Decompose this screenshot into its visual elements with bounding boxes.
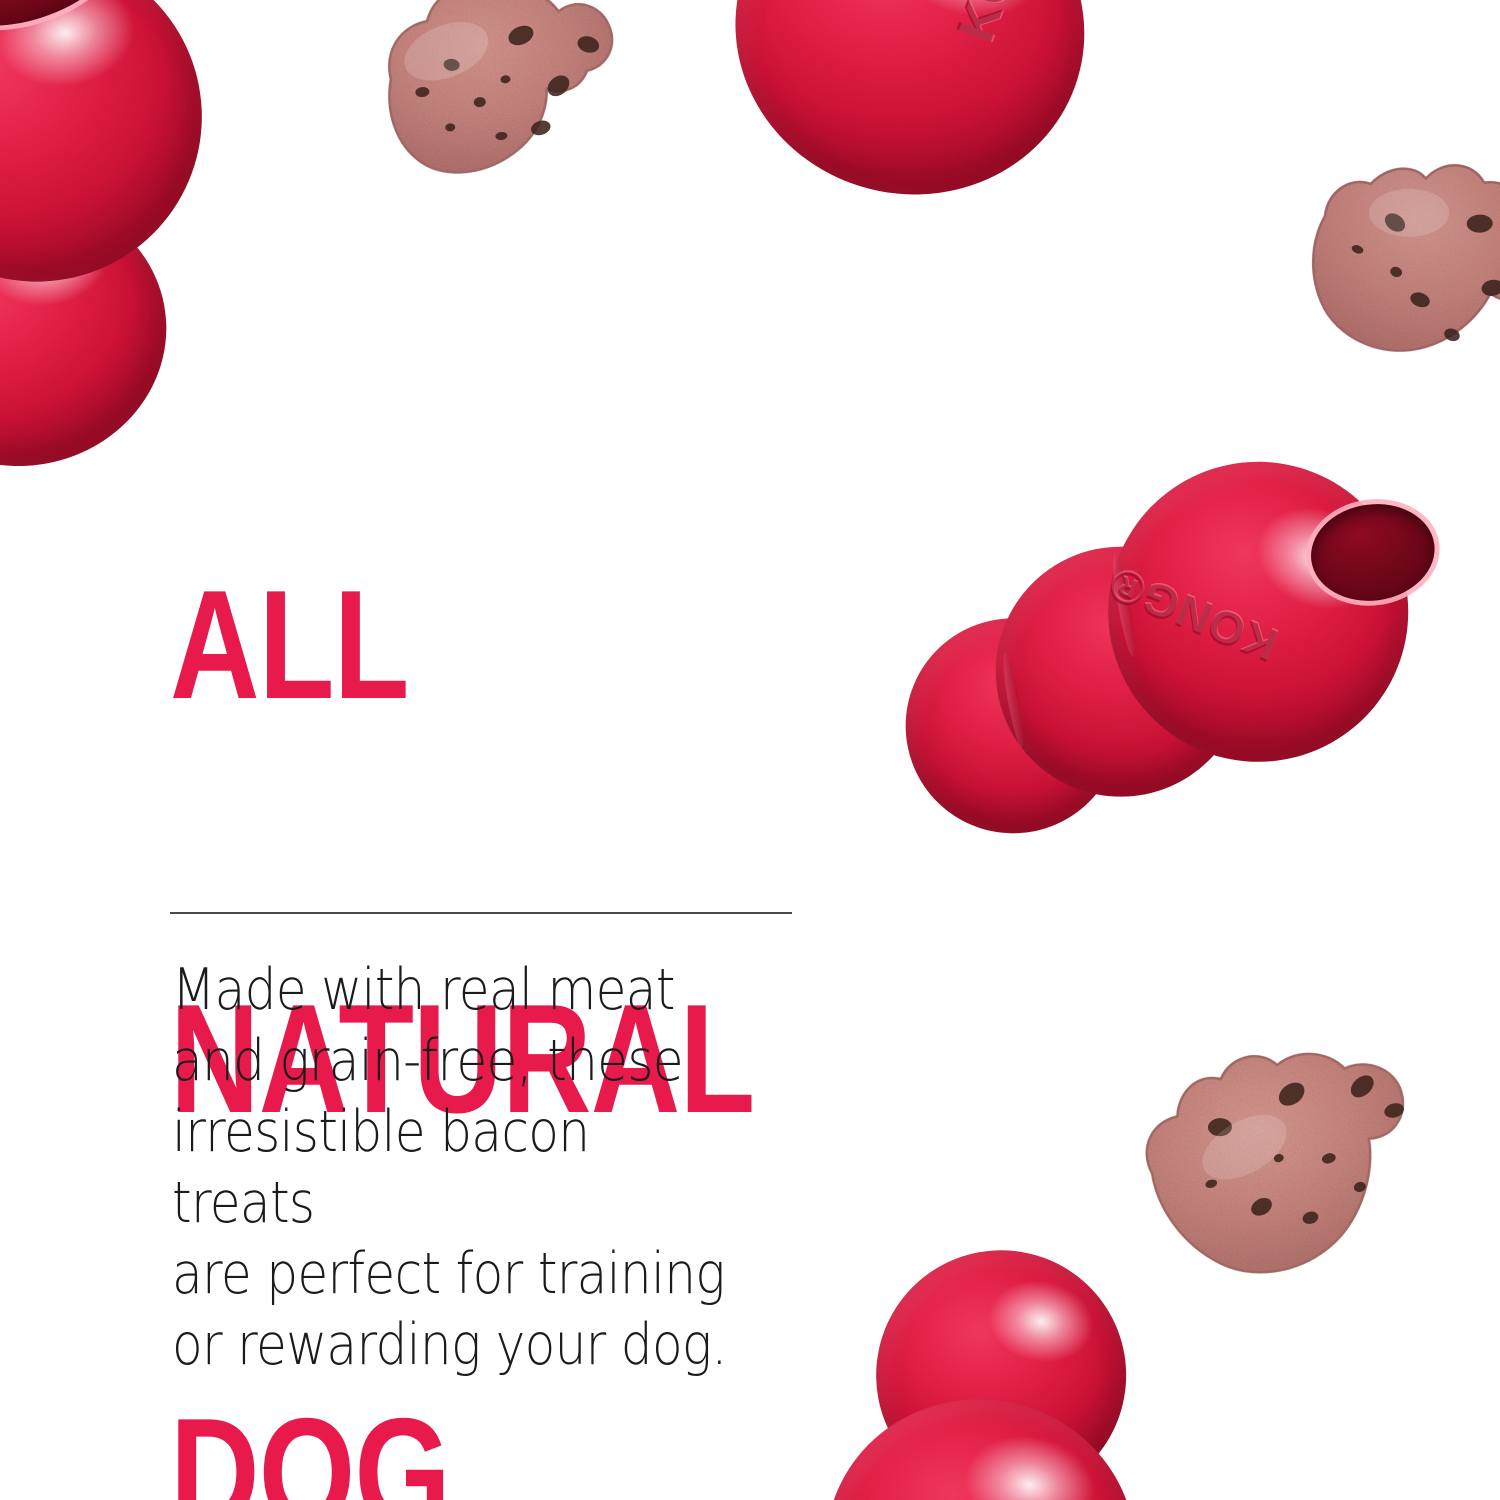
body-description: Made with real meat and grain-free, thes… (172, 955, 735, 1381)
kong-body: KONG® (856, 353, 1485, 987)
kong-toy-top-center: KONG (673, 0, 1216, 272)
copy-block: ALL NATURAL DOG TREATS Made with real me… (170, 300, 810, 1500)
headline-line-3: DOG (170, 1404, 682, 1500)
horizontal-divider (170, 912, 792, 914)
product-marketing-image: KONG KONG KONG® KONG® (0, 0, 1500, 1500)
bacon-treat-right (1261, 105, 1500, 425)
headline-line-1: ALL (170, 576, 682, 714)
kong-toy-center-right: KONG® (856, 353, 1485, 987)
kong-lobe-lower (700, 0, 1119, 231)
kong-body: KONG (673, 0, 1216, 272)
kong-lobe-upper (0, 0, 223, 303)
bacon-treat-top (320, 0, 641, 208)
